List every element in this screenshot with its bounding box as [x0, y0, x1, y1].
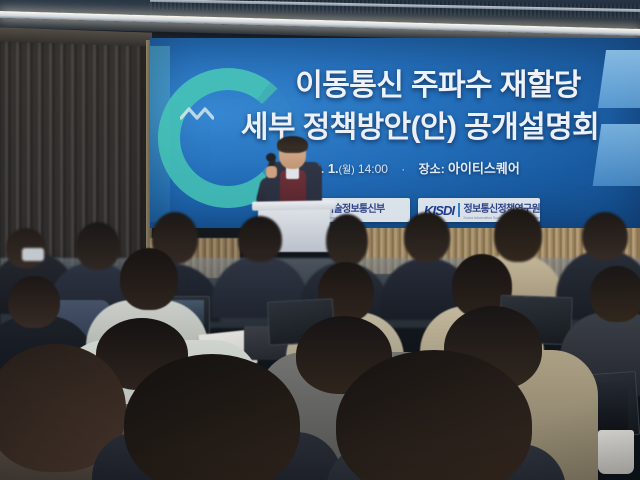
stage-banner: 이동통신 주파수 재할당 세부 정책방안(안) 공개설명회 2025. 12. … — [150, 38, 640, 228]
audience-head — [404, 212, 450, 262]
podium-top-surface — [252, 200, 336, 210]
audience-head — [590, 266, 640, 322]
banner-title-line-2: 세부 정책방안(안) 공개설명회 — [200, 102, 640, 146]
banner-date-place-line: 2025. 12. 1.(월) 14:00 · 장소: 아이티스퀘어 — [270, 158, 640, 177]
microphone-head — [266, 153, 276, 162]
conference-photo: 이동통신 주파수 재할당 세부 정책방안(안) 공개설명회 2025. 12. … — [0, 0, 640, 480]
banner-place-value: 아이티스퀘어 — [448, 161, 520, 176]
face-mask — [22, 248, 44, 261]
speaker-glasses-icon — [281, 149, 304, 156]
audience-head — [494, 208, 542, 262]
audience-head — [326, 214, 368, 266]
banner-time: 14:00 — [358, 162, 388, 176]
banner-separator: · — [401, 162, 405, 176]
audience-head — [8, 276, 60, 328]
coffee-cup — [598, 430, 634, 474]
audience-head — [120, 248, 178, 310]
audience-head — [582, 212, 628, 260]
logo-kisdi-divider — [458, 203, 459, 217]
banner-day-of-week: (월) — [339, 165, 355, 176]
audience-head — [76, 222, 120, 270]
banner-place-label: 장소: — [419, 162, 445, 176]
audience-head — [238, 216, 282, 262]
banner-title-line-1: 이동통신 주파수 재할당 — [238, 60, 638, 104]
speaker-hand — [266, 166, 277, 178]
